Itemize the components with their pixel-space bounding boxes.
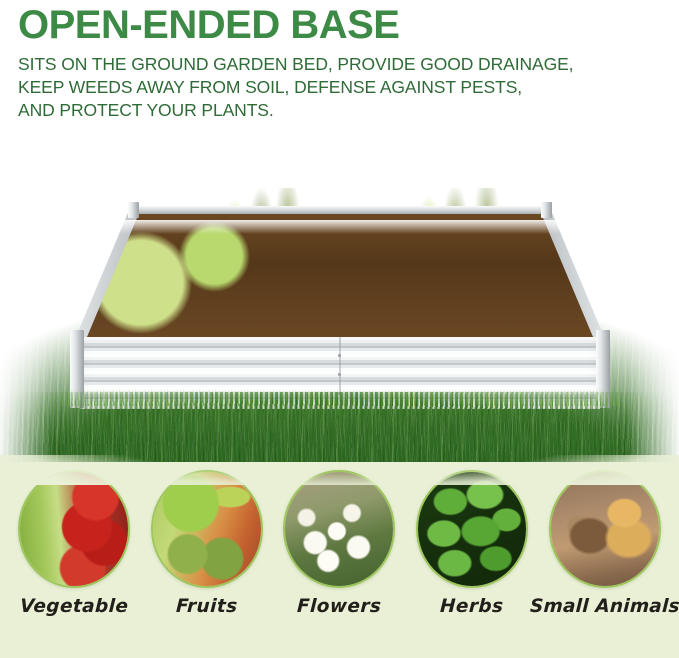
bed-rail-back bbox=[132, 206, 548, 214]
use-case-item-vegetable: Vegetable bbox=[10, 470, 138, 618]
mint-leaf-icon bbox=[418, 472, 526, 586]
use-case-item-small-animals: Small Animals bbox=[541, 470, 669, 618]
fruits-photo bbox=[151, 470, 263, 588]
use-cases-list: Vegetable Fruits Flowers Herbs bbox=[0, 470, 679, 658]
header-section: OPEN-ENDED BASE SITS ON THE GROUND GARDE… bbox=[0, 0, 679, 130]
use-case-item-fruits: Fruits bbox=[143, 470, 271, 618]
chick-icon bbox=[551, 472, 659, 586]
page-title: OPEN-ENDED BASE bbox=[18, 4, 679, 46]
pepper-icon bbox=[20, 472, 128, 586]
vegetables-photo bbox=[18, 470, 130, 588]
bed-corner-post-back-right bbox=[541, 202, 552, 218]
product-feature-graphic: OPEN-ENDED BASE SITS ON THE GROUND GARDE… bbox=[0, 0, 679, 658]
use-case-label: Fruits bbox=[176, 596, 239, 618]
use-cases-section: Vegetable Fruits Flowers Herbs bbox=[0, 462, 679, 658]
subtitle-line-2: KEEP WEEDS AWAY FROM SOIL, DEFENSE AGAIN… bbox=[18, 76, 679, 99]
use-case-label: Flowers bbox=[297, 596, 382, 618]
use-case-label: Small Animals bbox=[529, 596, 679, 618]
bed-rivet bbox=[338, 373, 341, 376]
use-case-item-flowers: Flowers bbox=[275, 470, 403, 618]
bed-rivet bbox=[338, 354, 341, 357]
apple-kiwi-icon bbox=[153, 472, 261, 586]
use-case-label: Herbs bbox=[440, 596, 505, 618]
herbs-photo bbox=[416, 470, 528, 588]
subtitle-block: SITS ON THE GROUND GARDEN BED, PROVIDE G… bbox=[18, 53, 679, 122]
bed-soil-surface bbox=[78, 210, 602, 342]
small-animals-photo bbox=[549, 470, 661, 588]
bed-corner-post-back-left bbox=[128, 202, 139, 218]
flowers-photo bbox=[283, 470, 395, 588]
use-case-item-herbs: Herbs bbox=[408, 470, 536, 618]
hero-image bbox=[0, 130, 679, 470]
lawn-foreground bbox=[0, 392, 679, 470]
daisy-icon bbox=[285, 472, 393, 586]
subtitle-line-3: AND PROTECT YOUR PLANTS. bbox=[18, 99, 679, 122]
subtitle-line-1: SITS ON THE GROUND GARDEN BED, PROVIDE G… bbox=[18, 53, 679, 76]
use-case-label: Vegetable bbox=[20, 596, 130, 618]
